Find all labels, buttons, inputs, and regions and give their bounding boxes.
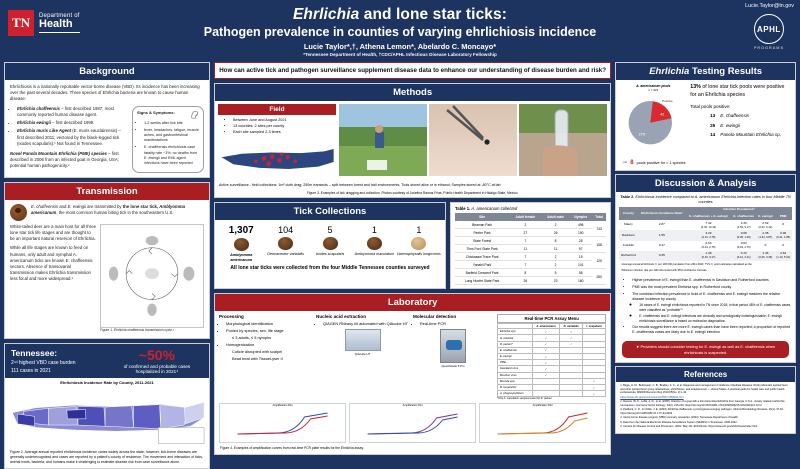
sampling-sites-map — [218, 138, 336, 180]
cell-county: Rutherford — [619, 251, 637, 261]
lab-extraction-heading: Nucleic acid extraction — [316, 314, 409, 319]
cell-adult-female: 7 — [509, 237, 541, 245]
cell-nymphs: 58 — [570, 269, 592, 277]
results-pie-chart: A. americanum pools n = 321 279 42 Posit… — [620, 84, 686, 153]
assay-note: *Only A. maculatum samples tested for R.… — [497, 397, 606, 400]
photo-tick-forceps — [429, 104, 517, 176]
methods-title: Methods — [215, 84, 610, 101]
cell-adult-male: 5 — [542, 269, 570, 277]
methods-field-bullets: Between June and August 2021 13 counties… — [225, 115, 336, 138]
reference-item: 4. Vector-borne disease program (VBD) su… — [620, 416, 791, 420]
table-row: Davidson1.553.29(2.13, 4.78)0.68(0.25, 1… — [619, 230, 792, 240]
col-chaffeensis: E. chaffeensis — [731, 214, 756, 221]
aphl-programs-label: PROGRAMS — [754, 46, 784, 50]
cell-ewingii: 2.52(0.63, 6.42) — [756, 220, 774, 230]
list-item: Cuticle disrupted with scalpel — [232, 349, 312, 354]
pcr-assay-menu: Real-time PCR Assay Menu A. americanum D… — [497, 314, 606, 400]
reference-item: https://www.cdc.gov/mmwr/volumes/65/rr/r… — [620, 396, 791, 400]
cell-adult-male: 23 — [542, 277, 570, 285]
cell-total: 125 — [592, 253, 606, 269]
cell-nymphs: 190 — [570, 229, 592, 237]
affiliation-list: *Tennessee Department of Health, †CDC/AP… — [0, 52, 800, 57]
reference-item: 5. Data from the National Electronic Dis… — [620, 421, 791, 425]
table-row: Barfield Crescent Park8558280 — [455, 269, 606, 277]
tennessee-sub-1: 2ⁿᵈ highest VBD case burden — [11, 360, 111, 366]
table-row: Peeler Park2726190 — [455, 229, 606, 237]
quantstudio-instrument-image — [440, 329, 466, 363]
hospitalized-stat: ~50% — [111, 348, 203, 362]
list-item: fever, headaches, fatigue, muscle aches,… — [144, 128, 199, 144]
tick-icon — [278, 237, 293, 250]
table2-title: Table 2. Ehrlichiosis incidence compared… — [619, 195, 792, 205]
laboratory-panel: Laboratory Processing Morphological iden… — [214, 293, 611, 455]
tick-count-cell: 104 Dermacentor variabilis — [263, 225, 307, 262]
table-row: Long Hunter State Park2623160 — [455, 277, 606, 285]
cell-nymphs: 496 — [570, 221, 592, 229]
positive-percentage: 13% — [690, 84, 701, 90]
tn-health-logo: TN Department of Health — [8, 10, 80, 36]
cell-nymphs: 15 — [570, 253, 592, 261]
col-group-prevalence: Infection Prevalenceᵇ — [686, 207, 792, 214]
methods-panel: Methods Field Between June and August 20… — [214, 83, 611, 198]
cell-pme: 0.96(0.41, 1.85) — [774, 230, 792, 240]
list-item: The combined infection prevalence in tic… — [632, 292, 791, 324]
cell-chaf-plus-ewi: 1.38(0.43, 3.17) — [686, 251, 731, 261]
col-incidence-rate: Ehrlichiosis Incidence Rateᵃ — [638, 207, 686, 220]
list-item: Between June and August 2021 — [233, 118, 334, 122]
table-header-row: Site Adult female Adult male Nymphs Tota… — [455, 213, 606, 221]
table-row: A. phagocytophilum✓ — [498, 391, 606, 397]
cell-total: 743 — [592, 221, 606, 237]
research-question-banner: How can active tick and pathogen surveil… — [214, 62, 611, 79]
svg-text:42: 42 — [660, 112, 664, 116]
tick-count: 1,307 — [219, 225, 263, 236]
methods-note: Active surveillance - field collections:… — [215, 183, 610, 191]
cell-county: Davidson — [619, 230, 637, 240]
svg-text:279: 279 — [639, 131, 646, 136]
list-item: Ehrlichia muris Like Agent (E. muris eau… — [17, 128, 128, 147]
cell-nymphs: 160 — [570, 277, 592, 285]
references-list: 1. Biggs, H. M., Behravesh, C. B., Bradl… — [616, 382, 795, 433]
list-item: QIAGEN RNeasy kit automated with QIAcube… — [323, 321, 409, 326]
list-item: Real-time PCR — [420, 321, 493, 326]
head-icon — [190, 110, 199, 119]
col-adult-male: Adult male — [542, 213, 570, 221]
background-title: Background — [5, 63, 209, 80]
reference-item: 6. Centers for Disease Control and Preve… — [620, 425, 791, 429]
list-item: E. chaffeensis ehrlichiosis case fatalit… — [144, 145, 199, 166]
table-row: Franklin0.470.63(0.04, 2.75)0.63(0.04, 2… — [619, 241, 792, 251]
tick-count-cell: 1,307 Amblyomma americanum — [219, 225, 263, 262]
cell-adult-female: 8 — [509, 269, 541, 277]
reference-link[interactable]: https://www.cdc.gov/mmwr/volumes/65/rr/r… — [620, 396, 683, 399]
list-item: Ehrlichia ewingii – first described 1999… — [17, 120, 128, 126]
cell-site: State Forest — [455, 237, 509, 245]
list-item: 13 counties; 2 sites per county — [233, 124, 334, 128]
transmission-para-2: While all life stages are known to feed … — [10, 245, 96, 282]
discussion-panel: Discussion & Analysis Table 2. Ehrlichio… — [615, 174, 796, 363]
cell-adult-female: 27 — [509, 229, 541, 237]
col-total: Total — [592, 213, 606, 221]
list-item: 16 cases of E. ewingii ehrlichiosis repo… — [639, 303, 791, 312]
list-item: Homogenization — [226, 342, 312, 347]
tick-species-label: Amblyomma maculatum — [352, 252, 396, 257]
table-row: State Forest7825158 — [455, 237, 606, 245]
table2-note-b: ᵇMinimum infection rate per 100 ticks te… — [619, 267, 792, 272]
list-item: Higher prevalence of E. ewingii than E. … — [632, 278, 791, 283]
cell-adult-female: 7 — [509, 261, 541, 269]
background-intro: Ehrlichiosis is a nationally reportable … — [10, 84, 204, 103]
transmission-panel: Transmission E. chaffeensis and E. ewing… — [4, 182, 210, 340]
tick-count-cell: 5 Ixodes scapularis — [308, 225, 352, 262]
middle-column: How can active tick and pathogen surveil… — [214, 62, 611, 444]
laboratory-title: Laboratory — [215, 294, 610, 311]
transmission-para-1: White-tailed deer are a main host for al… — [10, 224, 96, 243]
tn-logo-abbr: TN — [8, 10, 34, 36]
amplification-plot: Amplification Plot — [219, 403, 346, 443]
table1-panel: Table 1. A. americanum collected Site Ad… — [450, 202, 611, 289]
aphl-logo: APHL PROGRAMS — [754, 14, 784, 50]
cell-adult-male: 2 — [542, 221, 570, 229]
tick-icon — [323, 237, 338, 250]
title-line1-rest: and lone star ticks: — [359, 6, 507, 23]
total-row: 14Panola Mountain Ehrlichia sp. — [690, 132, 791, 139]
reference-item: 1. Biggs, H. M., Behravesh, C. B., Bradl… — [620, 384, 791, 395]
background-panel: Background Ehrlichiosis is a nationally … — [4, 62, 210, 178]
table1: Site Adult female Adult male Nymphs Tota… — [455, 213, 606, 285]
photo-vial-collection — [519, 104, 607, 176]
col-ewingii: E. ewingii — [756, 214, 774, 221]
cell-ewingii: 0 — [756, 241, 774, 251]
tn-map-title: Ehrlichiosis Incidence Rate by County, 2… — [5, 378, 209, 386]
tick-species-label: Dermacentor variabilis — [263, 252, 307, 257]
lab-detection-column: Molecular detection Real-time PCR QuantS… — [413, 314, 493, 400]
recommendation-callout: ➤ Providers should consider testing for … — [622, 341, 789, 358]
cell-nymphs: 97 — [570, 245, 592, 253]
cell-adult-female: 2 — [509, 221, 541, 229]
total-row: 13E. chaffeensis — [690, 113, 791, 120]
field-subsection-title: Field — [218, 104, 336, 115]
cell-site: Peeler Park — [455, 229, 509, 237]
lab-processing-heading: Processing — [219, 314, 312, 319]
cell-assay-check — [560, 391, 583, 397]
col-pme: PME — [774, 214, 792, 221]
table-row: Tims Ford State Park111197 — [455, 245, 606, 253]
cell-assay-target: A. phagocytophilum — [498, 391, 533, 397]
cell-chaf-plus-ewi: 0.63(0.04, 2.75) — [686, 241, 731, 251]
tn-incidence-map — [5, 386, 209, 448]
cell-site: Long Hunter State Park — [455, 277, 509, 285]
references-title: References — [616, 367, 795, 382]
arrow-icon: ➞ — [622, 159, 627, 166]
tick-count: 5 — [308, 225, 352, 235]
cell-adult-male: 11 — [542, 245, 570, 253]
col-county: County — [619, 207, 637, 220]
amplification-plot: Amplification Plot — [349, 403, 476, 443]
cell-ewingii: 1.46(0.46, 3.36) — [756, 251, 774, 261]
list-item: Pooled by species, sex, life stage — [226, 328, 312, 333]
tick-count-cell: 1 Amblyomma maculatum — [352, 225, 396, 262]
cell-adult-female: 11 — [509, 245, 541, 253]
cell-chaf-plus-ewi: 7.42(3.45, 13.44) — [686, 220, 731, 230]
cell-site: Yanahli Park — [455, 261, 509, 269]
total-row: 25E. ewingii — [690, 123, 791, 130]
figure-4-caption: Figure 4. Examples of amplification curv… — [215, 446, 610, 453]
col-chaf-plus-ewi: E. chaffeensis + E. ewingii — [686, 214, 731, 221]
cell-county: Maury — [619, 220, 637, 230]
signs-symptoms-box: Signs & Symptoms: 1-2 weeks after tick b… — [132, 106, 204, 173]
results-title: Ehrlichia Testing Results — [616, 63, 795, 80]
tick-collections-note: All lone star ticks were collected from … — [215, 264, 445, 276]
tick-collections-title: Tick Collections — [215, 203, 445, 220]
cell-assay-check — [532, 391, 560, 397]
list-item: Ehrlichia chaffeensis – first described … — [17, 106, 128, 118]
list-item: Bead beat with TissueLyser II — [232, 356, 312, 361]
table2: County Ehrlichiosis Incidence Rateᵃ Infe… — [619, 207, 792, 261]
qiacube-instrument-image — [345, 329, 381, 351]
list-item: Our results suggest there are more E. ew… — [632, 325, 791, 335]
table-row: Yanahli Park72101 — [455, 261, 606, 269]
cell-pme: 2.62(1.13, 5.01) — [774, 251, 792, 261]
signs-symptoms-title: Signs & Symptoms: — [137, 110, 175, 119]
tick-species-label: Ixodes scapularis — [308, 252, 352, 257]
cell-pme: 0 — [774, 241, 792, 251]
cell-incidence-rate: 1.55 — [638, 230, 686, 240]
tennessee-title: Tennessee: — [11, 348, 111, 358]
lab-extraction-column: Nucleic acid extraction QIAGEN RNeasy ki… — [316, 314, 409, 400]
amplification-plots: Amplification Plot Amplification Plot Am… — [215, 403, 610, 446]
tick-species-label: Haemaphysalis longicornis — [397, 252, 441, 257]
table1-title: Table 1. A. americanum collected — [455, 206, 606, 211]
tick-icon — [367, 237, 382, 250]
totals-label: Total pools positive: — [690, 104, 791, 111]
tick-icon — [234, 238, 249, 251]
cell-county: Franklin — [619, 241, 637, 251]
cell-total: 158 — [592, 237, 606, 253]
discussion-title: Discussion & Analysis — [616, 175, 795, 192]
amplification-plot: Amplification Plot — [479, 403, 606, 443]
cell-adult-male: 2 — [542, 261, 570, 269]
references-panel: References 1. Biggs, H. M., Behravesh, C… — [615, 366, 796, 434]
field-photos — [339, 104, 607, 180]
cell-adult-male: 2 — [542, 253, 570, 261]
author-list: Lucie Taylor*,†, Athena Lemon*, Abelardo… — [0, 42, 800, 51]
tick-icon — [411, 237, 426, 250]
cell-chaffeensis: 0.68(0.25, 1.46) — [731, 230, 756, 240]
cell-incidence-rate: 0.35 — [638, 251, 686, 261]
table-header-row: County Ehrlichiosis Incidence Rateᵃ Infe… — [619, 207, 792, 214]
tennessee-sub-2: 111 cases in 2021 — [11, 368, 111, 374]
cell-ewingii: 2.35(1.34, 3.87) — [756, 230, 774, 240]
cell-total: 280 — [592, 269, 606, 285]
list-item: 1-2 weeks after tick bite — [144, 121, 199, 126]
col-site: Site — [455, 213, 509, 221]
lab-detection-heading: Molecular detection — [413, 314, 493, 319]
cell-adult-female: 26 — [509, 277, 541, 285]
tick-count-cell: 1 Haemaphysalis longicornis — [397, 225, 441, 262]
right-column: Ehrlichia Testing Results A. americanum … — [615, 62, 796, 444]
multi-species-label: pools positive for > 1 species — [637, 161, 686, 165]
positive-percentage-label: of lone star tick pools were positive fo… — [690, 84, 784, 98]
cell-nymphs: 101 — [570, 261, 592, 269]
pme-title: Novel Panola Mountain Ehrlichia (PME) sp… — [10, 151, 107, 156]
qiacube-caption: QIAcube HT — [316, 352, 409, 356]
col-adult-female: Adult female — [509, 213, 541, 221]
quantstudio-caption: QuantStudio 6 Pro — [413, 364, 493, 368]
results-summary: 13% of lone star tick pools were positiv… — [690, 84, 791, 153]
cell-pme: 0 — [774, 220, 792, 230]
poster-header: TN Department of Health Lucie.Taylor@tn.… — [0, 0, 800, 62]
assay-menu-title: Real-time PCR Assay Menu — [497, 314, 606, 323]
logo-health-label: Health — [39, 19, 80, 33]
cell-nymphs: 25 — [570, 237, 592, 245]
tick-count: 1 — [352, 225, 396, 235]
reference-item: 3. Paddock, C. D., & Childs, J. E. (2003… — [620, 408, 791, 415]
cell-adult-male: 8 — [542, 237, 570, 245]
title-genus: Ehrlichia — [293, 6, 359, 23]
tick-count: 1 — [397, 225, 441, 235]
table-row: Maury2.877.42(3.45, 13.44)4.36(1.59, 9.1… — [619, 220, 792, 230]
list-item: ≤ 3 adults, ≤ 5 nymphs — [232, 335, 312, 340]
cell-incidence-rate: 2.87 — [638, 220, 686, 230]
table-row: Rutherford0.351.38(0.43, 3.17)0.72(0.12,… — [619, 251, 792, 261]
transmission-title: Transmission — [5, 183, 209, 200]
cell-assay-check: ✓ — [583, 391, 606, 397]
reference-item: 2. Reeves, W. K., Loftis, A. D., et al. … — [620, 400, 791, 407]
list-item: E. chaffeensis and E. ewingii infections… — [639, 314, 791, 323]
list-item: Each site sampled 2-3 times — [233, 130, 334, 134]
tick-species-label: Amblyomma americanum — [219, 253, 263, 262]
tick-icon — [10, 204, 27, 221]
cell-chaffeensis: 0.63(0.04, 2.75) — [731, 241, 756, 251]
cell-incidence-rate: 0.47 — [638, 241, 686, 251]
cell-site: Chickasaw Trace Park — [455, 253, 509, 261]
svg-text:Positive: Positive — [662, 99, 673, 103]
tick-collections-panel: Tick Collections 1,307 Amblyomma america… — [214, 202, 446, 289]
aphl-logo-text: APHL — [754, 14, 784, 44]
cell-adult-male: 26 — [542, 229, 570, 237]
lab-processing-column: Processing Morphological identification … — [219, 314, 312, 400]
tick-count: 104 — [263, 225, 307, 235]
hospitalized-stat-label: of confirmed and probable cases hospital… — [111, 364, 203, 374]
table-row: Beaman Park22496743 — [455, 221, 606, 229]
discussion-bullets: Higher prevalence of E. ewingii than E. … — [623, 275, 795, 339]
cell-site: Tims Ford State Park — [455, 245, 509, 253]
background-species-list: Ehrlichia chaffeensis – first described … — [17, 106, 128, 147]
cell-chaffeensis: 0.72(0.12, 2.21) — [731, 251, 756, 261]
col-nymphs: Nymphs — [570, 213, 592, 221]
page-title: Ehrlichia and lone star ticks: — [0, 6, 800, 24]
photo-tick-dragging — [339, 104, 427, 176]
cell-chaffeensis: 4.36(1.59, 9.17) — [731, 220, 756, 230]
left-column: Background Ehrlichiosis is a nationally … — [4, 62, 210, 444]
multi-species-count: 8 — [630, 160, 633, 166]
results-panel: Ehrlichia Testing Results A. americanum … — [615, 62, 796, 171]
page-subtitle: Pathogen prevalence in counties of varyi… — [0, 25, 800, 39]
poster-title-block: Ehrlichia and lone star ticks: Pathogen … — [0, 0, 800, 57]
transmission-cycle-figure — [100, 224, 204, 328]
table-row: Chickasaw Trace Park7215125 — [455, 253, 606, 261]
multi-species-note: ➞ 8 pools positive for > 1 species — [616, 155, 795, 170]
figure-3-caption: Figure 3. Examples of tick dragging and … — [215, 191, 610, 197]
assay-table: A. americanum D. variabilis I. scapulari… — [497, 323, 606, 397]
cell-site: Barfield Crescent Park — [455, 269, 509, 277]
figure-2-caption: Figure 2. Average annual reported ehrlic… — [5, 448, 209, 467]
cell-site: Beaman Park — [455, 221, 509, 229]
list-item: Morphological identification — [226, 321, 312, 326]
contact-email[interactable]: Lucie.Taylor@tn.gov — [745, 3, 794, 9]
cell-adult-female: 7 — [509, 253, 541, 261]
cell-chaf-plus-ewi: 3.29(2.13, 4.78) — [686, 230, 731, 240]
list-item: PME was the most prevalent Ehrlichia spp… — [632, 285, 791, 290]
